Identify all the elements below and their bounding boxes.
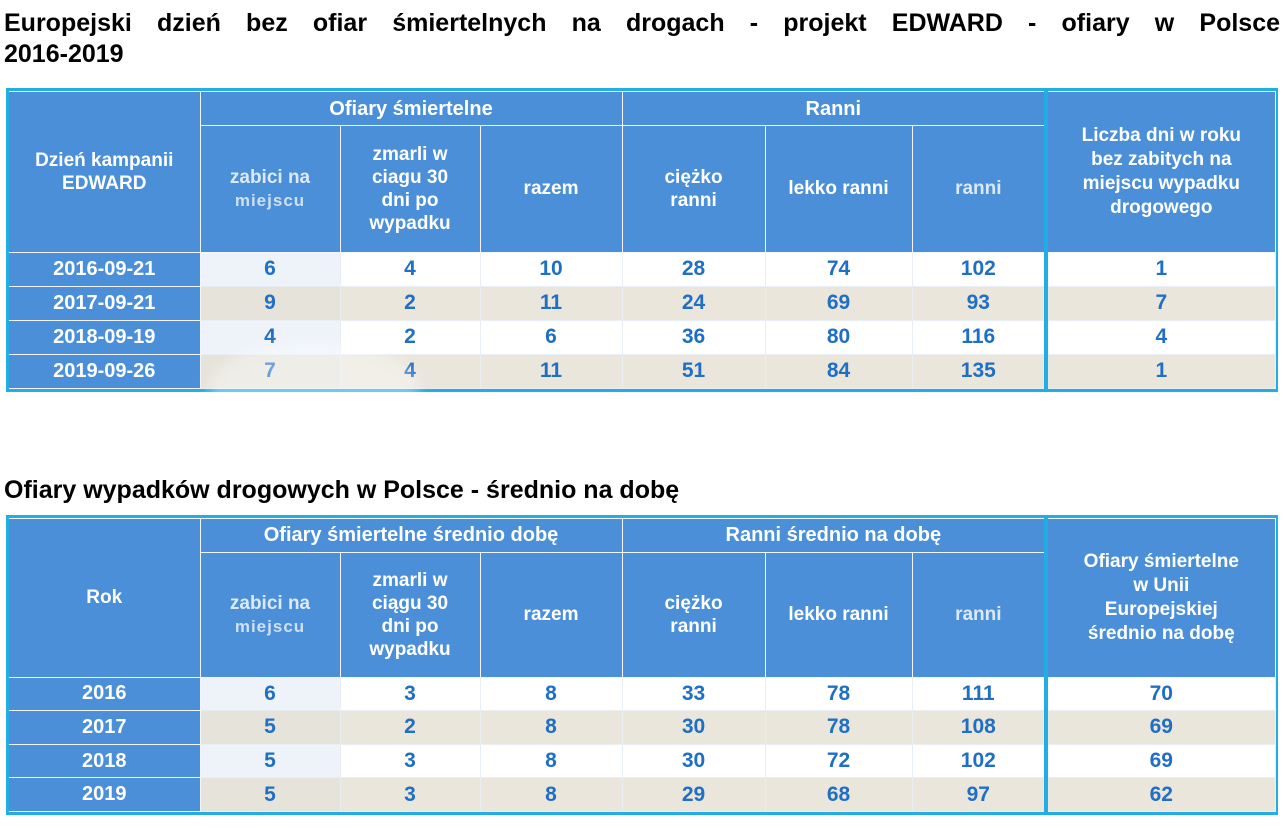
table-1-header-stub-line-1: Dzień kampanii <box>9 149 200 172</box>
table-1-row-label: 2018-09-19 <box>9 320 200 354</box>
table-2-cell-total-fatalities: 8 <box>480 711 622 745</box>
table-1-header-days-line-3: miejscu wypadku <box>1048 172 1275 196</box>
table-2-row-label: 2017 <box>9 711 200 745</box>
table-1-cell-died-30-days: 2 <box>340 320 480 354</box>
table-2-header-group-fatalities-daily: Ofiary śmiertelne średnio dobę <box>200 519 622 553</box>
table-row: 2016 6 3 8 33 78 111 70 <box>9 677 1275 711</box>
table-2-cell-total-fatalities: 8 <box>480 778 622 812</box>
table-1-cell-days-without-fatalities: 1 <box>1046 354 1275 388</box>
table-2-header-seriously-injured-line-2: ranni <box>623 615 765 638</box>
table-1-header-injured-total: ranni <box>912 126 1046 253</box>
table-1-header-killed-on-spot-line-2: miejscu <box>201 189 340 212</box>
table-2-cell-seriously-injured: 30 <box>622 711 765 745</box>
table-2-cell-slightly-injured: 68 <box>765 778 912 812</box>
table-1-header-died-line-1: zmarli w <box>341 143 480 166</box>
table-2-header-seriously-injured-line-1: ciężko <box>623 592 765 615</box>
table-2-row-label: 2016 <box>9 677 200 711</box>
table-2-cell-seriously-injured: 29 <box>622 778 765 812</box>
table-2-cell-total-fatalities: 8 <box>480 677 622 711</box>
table-2-row-label: 2019 <box>9 778 200 812</box>
table-1-cell-injured-total: 116 <box>912 320 1046 354</box>
table-1-row-label: 2016-09-21 <box>9 252 200 286</box>
table-2-header-died-line-4: wypadku <box>341 638 480 661</box>
table-2-header-killed-on-spot-line-2: miejscu <box>201 615 340 638</box>
table-1-cell-slightly-injured: 74 <box>765 252 912 286</box>
table-road-victims-daily-average: Rok Ofiary śmiertelne średnio dobę Ranni… <box>6 515 1278 815</box>
table-1-cell-killed-on-spot: 6 <box>200 252 340 286</box>
table-2-header-total-fatalities: razem <box>480 552 622 677</box>
table-1-cell-injured-total: 93 <box>912 286 1046 320</box>
table-1-cell-died-30-days: 2 <box>340 286 480 320</box>
table-1-cell-injured-total: 135 <box>912 354 1046 388</box>
table-2-header-slightly-injured: lekko ranni <box>765 552 912 677</box>
table-1-cell-days-without-fatalities: 7 <box>1046 286 1275 320</box>
table-1-cell-killed-on-spot: 4 <box>200 320 340 354</box>
table-2-header-eu-fatalities-daily: Ofiary śmiertelne w Unii Europejskiej śr… <box>1046 519 1275 678</box>
table-2-cell-injured-total: 102 <box>912 744 1046 778</box>
table-1-header-days-line-4: drogowego <box>1048 196 1275 220</box>
table-1-cell-killed-on-spot: 9 <box>200 286 340 320</box>
table-1-cell-died-30-days: 4 <box>340 354 480 388</box>
table-1-cell-seriously-injured: 28 <box>622 252 765 286</box>
table-1-cell-injured-total: 102 <box>912 252 1046 286</box>
table-1-row-label: 2019-09-26 <box>9 354 200 388</box>
table-2-cell-killed-on-spot: 6 <box>200 677 340 711</box>
table-2-header-died-line-2: ciągu 30 <box>341 592 480 615</box>
table-2-cell-seriously-injured: 30 <box>622 744 765 778</box>
table-2-cell-eu-daily-average: 62 <box>1046 778 1275 812</box>
table-2-header-group-injured-daily: Ranni średnio na dobę <box>622 519 1046 553</box>
table-1-header-died-line-4: wypadku <box>341 212 480 235</box>
table-2-cell-killed-on-spot: 5 <box>200 711 340 745</box>
table-1-cell-died-30-days: 4 <box>340 252 480 286</box>
table-2-grid: Rok Ofiary śmiertelne średnio dobę Ranni… <box>9 518 1276 812</box>
table-row: 2017-09-21 9 2 11 24 69 93 7 <box>9 286 1275 320</box>
table-1-cell-total-fatalities: 6 <box>480 320 622 354</box>
table-1-header-killed-on-spot: zabici na miejscu <box>200 126 340 253</box>
table-1-cell-total-fatalities: 11 <box>480 354 622 388</box>
table-2-cell-died-30-days: 3 <box>340 677 480 711</box>
table-2-header-seriously-injured: ciężko ranni <box>622 552 765 677</box>
table-1-grid: Dzień kampanii EDWARD Ofiary śmiertelne … <box>9 91 1276 389</box>
table-2-row-label: 2018 <box>9 744 200 778</box>
table-2-header-killed-on-spot-line-1: zabici na <box>201 592 340 615</box>
table-1-header-died-line-2: ciagu 30 <box>341 166 480 189</box>
table-2-cell-injured-total: 111 <box>912 677 1046 711</box>
table-2-header-eu-line-3: Europejskiej <box>1048 598 1275 622</box>
table-edward-campaign-days: Dzień kampanii EDWARD Ofiary śmiertelne … <box>6 88 1278 392</box>
table-1-header-seriously-injured: ciężko ranni <box>622 126 765 253</box>
table-2-cell-died-30-days: 2 <box>340 711 480 745</box>
table-2-header-injured-total: ranni <box>912 552 1046 677</box>
table-1-cell-slightly-injured: 84 <box>765 354 912 388</box>
table-2-cell-total-fatalities: 8 <box>480 744 622 778</box>
table-row: 2018-09-19 4 2 6 36 80 116 4 <box>9 320 1275 354</box>
table-1-header-group-fatalities: Ofiary śmiertelne <box>200 92 622 126</box>
table-1-header-days-line-1: Liczba dni w roku <box>1048 124 1275 148</box>
table-1-cell-seriously-injured: 36 <box>622 320 765 354</box>
table-1-cell-days-without-fatalities: 1 <box>1046 252 1275 286</box>
table-1-header-seriously-injured-line-1: ciężko <box>623 166 765 189</box>
table-2-cell-slightly-injured: 78 <box>765 711 912 745</box>
table-1-header-total-fatalities: razem <box>480 126 622 253</box>
table-2-cell-injured-total: 97 <box>912 778 1046 812</box>
slide-page: Europejski dzień bez ofiar śmiertelnych … <box>0 0 1284 828</box>
table-1-cell-total-fatalities: 11 <box>480 286 622 320</box>
table-1-header-died-line-3: dni po <box>341 189 480 212</box>
table-2-header-stub: Rok <box>9 519 200 678</box>
table-2-header-eu-line-1: Ofiary śmiertelne <box>1048 550 1275 574</box>
table-1-cell-days-without-fatalities: 4 <box>1046 320 1275 354</box>
table-2-header-died-line-1: zmarli w <box>341 569 480 592</box>
page-title-1: Europejski dzień bez ofiar śmiertelnych … <box>4 8 1280 70</box>
table-1-cell-seriously-injured: 24 <box>622 286 765 320</box>
page-title-1-line-1: Europejski dzień bez ofiar śmiertelnych … <box>4 9 1280 37</box>
table-1-header-stub-line-2: EDWARD <box>9 172 200 195</box>
table-1-header-days-line-2: bez zabitych na <box>1048 148 1275 172</box>
table-1-header-days-without-fatalities: Liczba dni w roku bez zabitych na miejsc… <box>1046 92 1275 253</box>
table-2-cell-died-30-days: 3 <box>340 744 480 778</box>
table-row: 2018 5 3 8 30 72 102 69 <box>9 744 1275 778</box>
table-2-header-died-line-3: dni po <box>341 615 480 638</box>
table-2-cell-died-30-days: 3 <box>340 778 480 812</box>
table-2-header-killed-on-spot: zabici na miejscu <box>200 552 340 677</box>
table-2-cell-slightly-injured: 72 <box>765 744 912 778</box>
table-2-cell-seriously-injured: 33 <box>622 677 765 711</box>
table-1-cell-slightly-injured: 69 <box>765 286 912 320</box>
table-1-row-label: 2017-09-21 <box>9 286 200 320</box>
table-2-cell-killed-on-spot: 5 <box>200 744 340 778</box>
table-1-header-slightly-injured: lekko ranni <box>765 126 912 253</box>
table-2-cell-slightly-injured: 78 <box>765 677 912 711</box>
table-2-cell-killed-on-spot: 5 <box>200 778 340 812</box>
table-1-header-stub: Dzień kampanii EDWARD <box>9 92 200 253</box>
table-2-header-group-row: Rok Ofiary śmiertelne średnio dobę Ranni… <box>9 519 1275 553</box>
table-row: 2019-09-26 7 4 11 51 84 135 1 <box>9 354 1275 388</box>
table-1-header-died-within-30-days: zmarli w ciagu 30 dni po wypadku <box>340 126 480 253</box>
table-2-cell-eu-daily-average: 69 <box>1046 744 1275 778</box>
table-1-header-group-injured: Ranni <box>622 92 1046 126</box>
page-title-1-line-2: 2016-2019 <box>4 39 1280 70</box>
table-2-cell-eu-daily-average: 69 <box>1046 711 1275 745</box>
table-2-cell-eu-daily-average: 70 <box>1046 677 1275 711</box>
table-row: 2019 5 3 8 29 68 97 62 <box>9 778 1275 812</box>
table-1-header-group-row: Dzień kampanii EDWARD Ofiary śmiertelne … <box>9 92 1275 126</box>
table-2-header-eu-line-2: w Unii <box>1048 574 1275 598</box>
table-2-header-eu-line-4: średnio na dobę <box>1048 622 1275 646</box>
table-row: 2016-09-21 6 4 10 28 74 102 1 <box>9 252 1275 286</box>
table-row: 2017 5 2 8 30 78 108 69 <box>9 711 1275 745</box>
table-1-header-killed-on-spot-line-1: zabici na <box>201 166 340 189</box>
table-2-header-died-within-30-days: zmarli w ciągu 30 dni po wypadku <box>340 552 480 677</box>
table-1-cell-killed-on-spot: 7 <box>200 354 340 388</box>
table-1-header-seriously-injured-line-2: ranni <box>623 189 765 212</box>
table-2-cell-injured-total: 108 <box>912 711 1046 745</box>
table-1-cell-seriously-injured: 51 <box>622 354 765 388</box>
page-title-2: Ofiary wypadków drogowych w Polsce - śre… <box>4 475 1280 506</box>
table-1-cell-total-fatalities: 10 <box>480 252 622 286</box>
table-1-cell-slightly-injured: 80 <box>765 320 912 354</box>
